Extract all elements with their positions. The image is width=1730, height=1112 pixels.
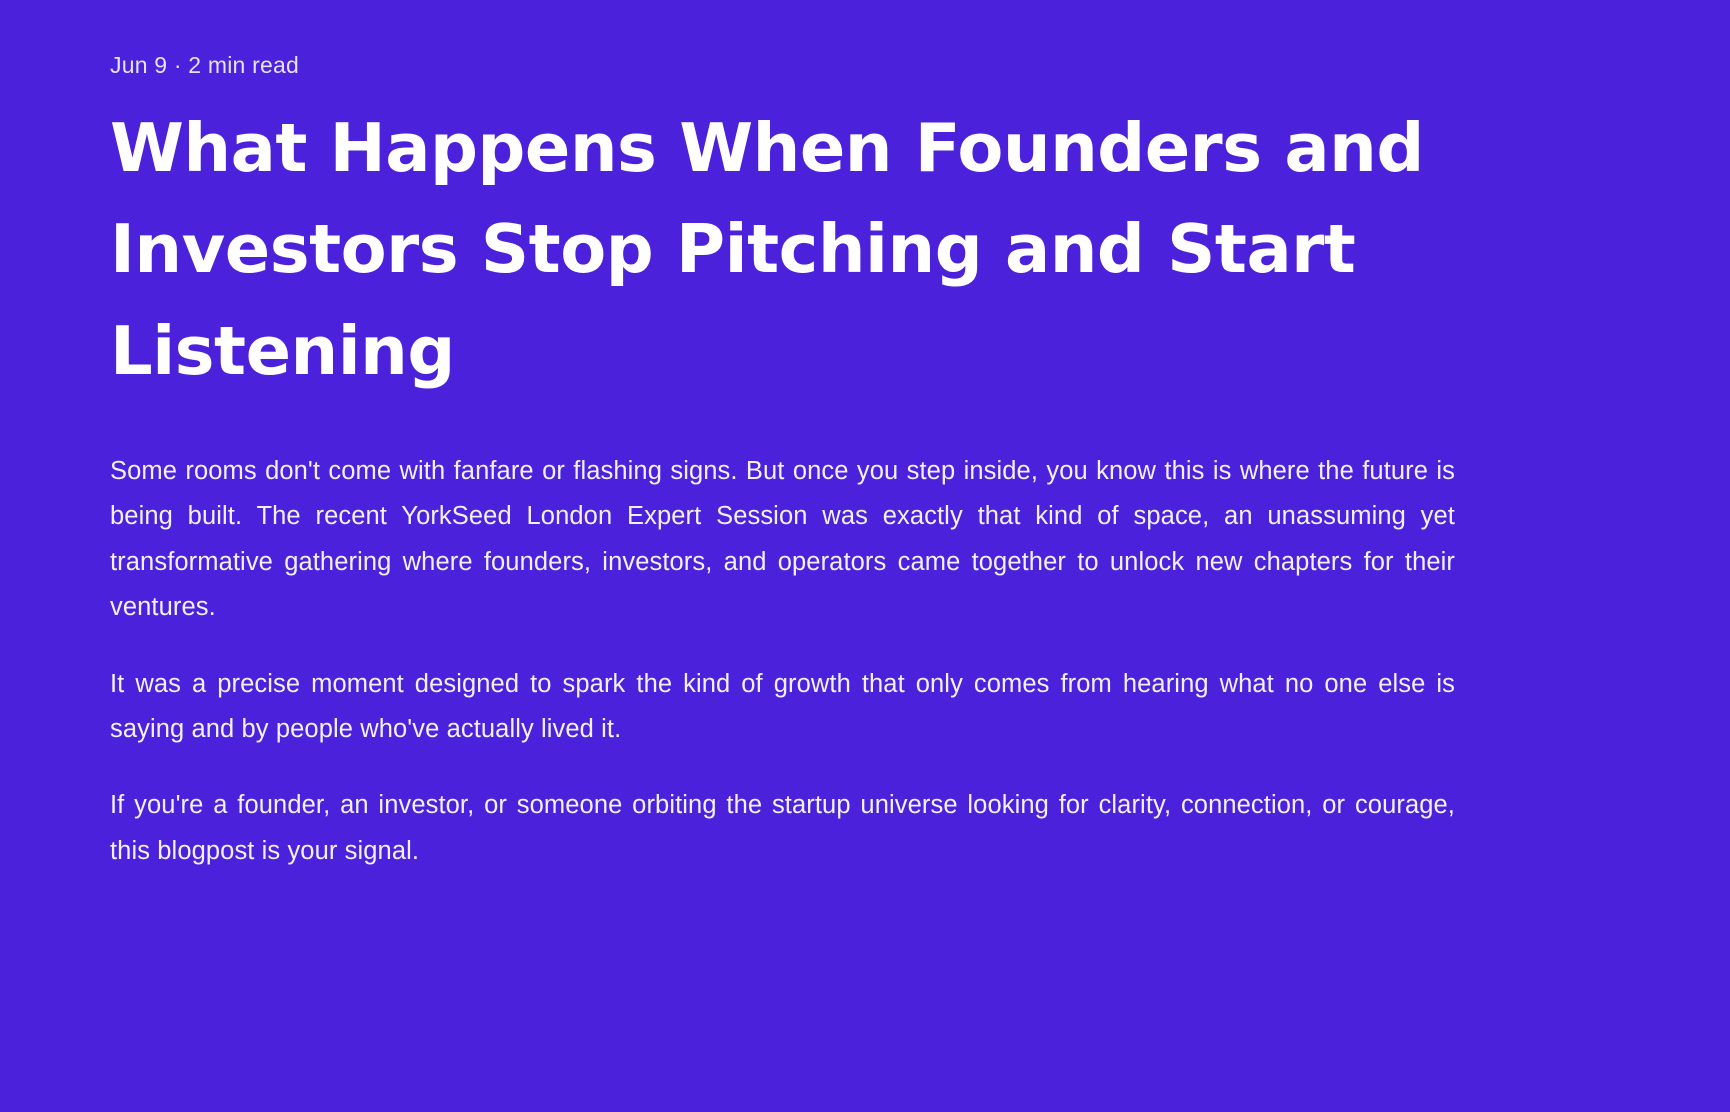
article-paragraph: If you're a founder, an investor, or som… xyxy=(110,783,1455,874)
page-title: What Happens When Founders and Investors… xyxy=(110,98,1450,403)
article-body: Some rooms don't come with fanfare or fl… xyxy=(110,449,1455,874)
article-meta: Jun 9 · 2 min read xyxy=(110,52,1455,80)
article-container: Jun 9 · 2 min read What Happens When Fou… xyxy=(110,52,1455,874)
article-paragraph: Some rooms don't come with fanfare or fl… xyxy=(110,449,1455,631)
article-paragraph: It was a precise moment designed to spar… xyxy=(110,662,1455,753)
blog-post-page: Jun 9 · 2 min read What Happens When Fou… xyxy=(0,0,1730,1112)
